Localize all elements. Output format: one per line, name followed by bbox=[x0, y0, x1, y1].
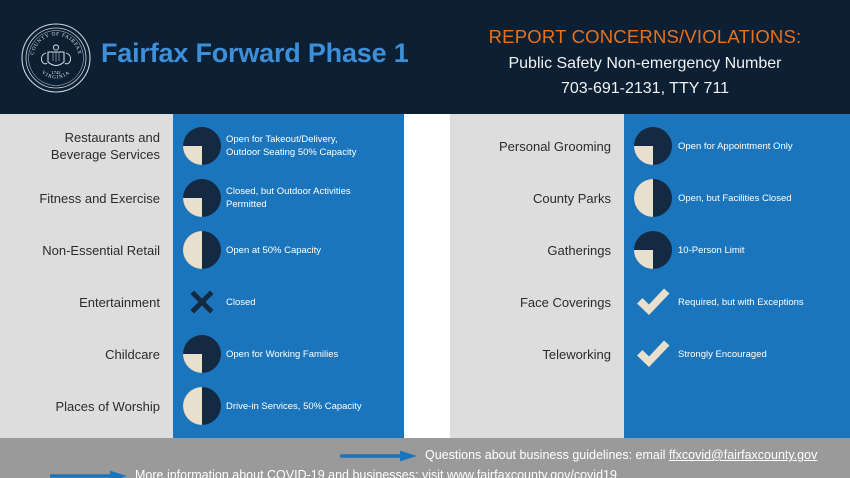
report-concerns-block: REPORT CONCERNS/VIOLATIONS: Public Safet… bbox=[440, 26, 850, 98]
pie-quarter-icon bbox=[183, 179, 221, 217]
fairfax-county-seal-icon: COUNTY OF FAIRFAX VIRGINIA 1742 bbox=[20, 22, 92, 94]
footer-line-1-text: Questions about business guidelines: ema… bbox=[425, 448, 669, 462]
status-text: Open at 50% Capacity bbox=[226, 244, 398, 257]
footer-arrow-2-icon bbox=[50, 470, 128, 478]
pie-half-icon bbox=[183, 231, 221, 269]
report-line-1: Public Safety Non-emergency Number bbox=[440, 55, 850, 73]
status-text: Open, but Facilities Closed bbox=[678, 192, 846, 205]
category-label: Restaurants andBeverage Services bbox=[8, 129, 160, 163]
category-label: Non-Essential Retail bbox=[8, 242, 160, 259]
status-text: Closed, but Outdoor ActivitiesPermitted bbox=[226, 185, 398, 211]
pie-quarter-icon bbox=[634, 231, 672, 269]
status-text: Open for Takeout/Delivery,Outdoor Seatin… bbox=[226, 133, 398, 159]
header-bar: COUNTY OF FAIRFAX VIRGINIA 1742 Fairfax … bbox=[0, 0, 850, 114]
footer-arrow-1-icon bbox=[340, 450, 418, 462]
status-text: Strongly Encouraged bbox=[678, 348, 846, 361]
category-label: Entertainment bbox=[8, 294, 160, 311]
svg-text:1742: 1742 bbox=[51, 70, 61, 75]
category-label: Places of Worship bbox=[8, 398, 160, 415]
email-link[interactable]: ffxcovid@fairfaxcounty.gov bbox=[669, 448, 817, 462]
category-label: Teleworking bbox=[458, 346, 611, 363]
footer-line-1: Questions about business guidelines: ema… bbox=[425, 448, 817, 462]
category-label: Gatherings bbox=[458, 242, 611, 259]
footer-bar: Questions about business guidelines: ema… bbox=[0, 438, 850, 478]
status-text: Open for Appointment Only bbox=[678, 140, 846, 153]
category-label: Personal Grooming bbox=[458, 138, 611, 155]
pie-quarter-icon bbox=[183, 127, 221, 165]
footer-line-2: More information about COVID-19 and busi… bbox=[135, 468, 617, 478]
right-label-band bbox=[450, 114, 624, 438]
pie-half-icon bbox=[634, 179, 672, 217]
pie-quarter-icon bbox=[183, 335, 221, 373]
pie-half-icon bbox=[183, 387, 221, 425]
report-heading: REPORT CONCERNS/VIOLATIONS: bbox=[440, 26, 850, 48]
footer-line-2-text: More information about COVID-19 and busi… bbox=[135, 468, 447, 478]
page-title: Fairfax Forward Phase 1 bbox=[101, 38, 409, 69]
checkmark-icon bbox=[634, 335, 672, 373]
status-text: Required, but with Exceptions bbox=[678, 296, 846, 309]
category-label: Childcare bbox=[8, 346, 160, 363]
status-text: Open for Working Families bbox=[226, 348, 398, 361]
status-text: Closed bbox=[226, 296, 398, 309]
report-line-2: 703-691-2131, TTY 711 bbox=[440, 80, 850, 98]
category-label: Face Coverings bbox=[458, 294, 611, 311]
x-mark-icon bbox=[183, 283, 221, 321]
center-divider bbox=[404, 114, 450, 438]
category-label: County Parks bbox=[458, 190, 611, 207]
category-label: Fitness and Exercise bbox=[8, 190, 160, 207]
fairfax-forward-phase1-infographic: COUNTY OF FAIRFAX VIRGINIA 1742 Fairfax … bbox=[0, 0, 850, 478]
status-text: 10-Person Limit bbox=[678, 244, 846, 257]
website-link[interactable]: www.fairfaxcounty.gov/covid19 bbox=[447, 468, 617, 478]
pie-quarter-icon bbox=[634, 127, 672, 165]
checkmark-icon bbox=[634, 283, 672, 321]
status-text: Drive-in Services, 50% Capacity bbox=[226, 400, 398, 413]
